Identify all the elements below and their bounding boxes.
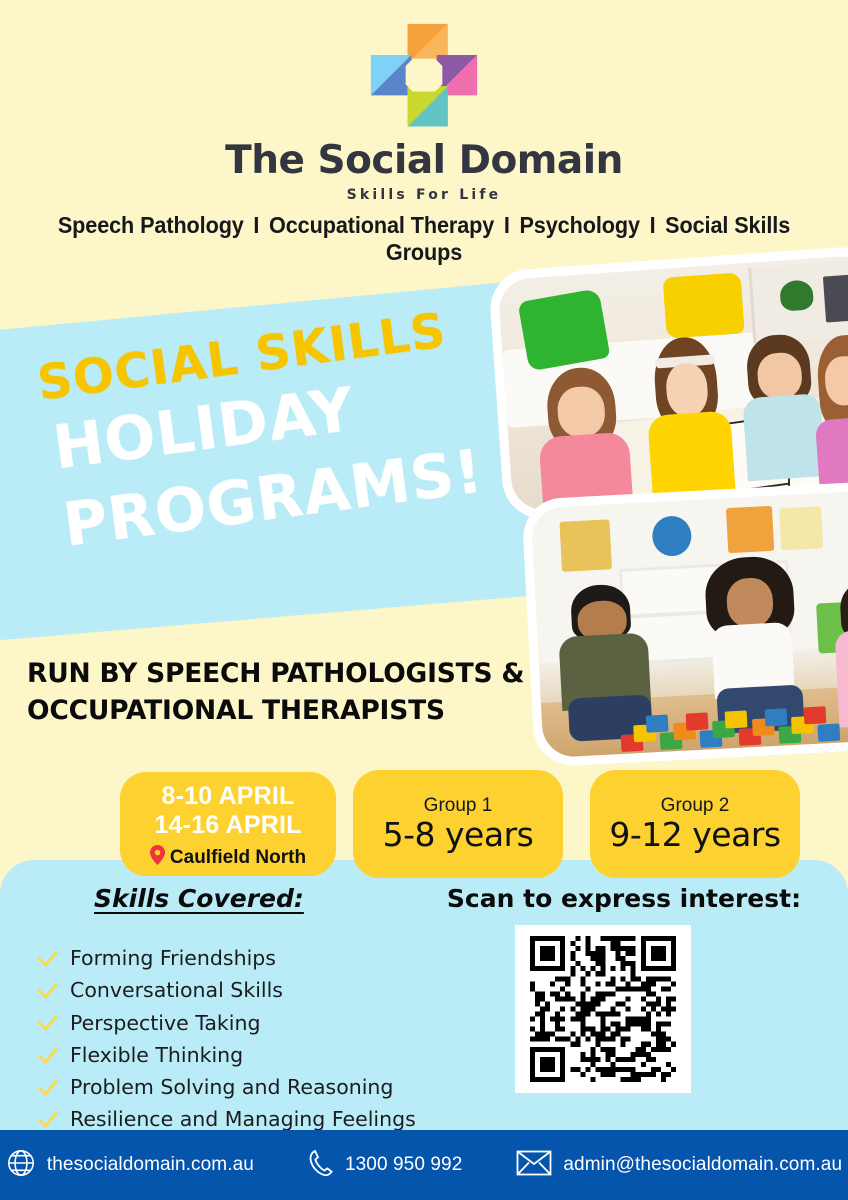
photo-children-drawing (488, 245, 848, 522)
check-tick-icon (38, 1079, 58, 1097)
poster-root: The Social Domain Skills For Life Speech… (0, 0, 848, 1200)
skill-label: Conversational Skills (70, 976, 283, 1004)
check-tick-icon (38, 1047, 58, 1065)
skills-list: Forming FriendshipsConversational Skills… (38, 944, 458, 1138)
location-label: Caulfield North (170, 847, 306, 869)
date-line-2: 14-16 APRIL (154, 811, 301, 840)
discipline-occupational-therapy: Occupational Therapy (269, 212, 494, 238)
footer-website-text: thesocialdomain.com.au (47, 1154, 254, 1176)
group-1-value: 5-8 years (383, 815, 534, 854)
check-tick-icon (38, 1014, 58, 1032)
brand-tagline: Skills For Life (0, 187, 848, 203)
separator: I (250, 212, 263, 238)
check-tick-icon (38, 982, 58, 1000)
skill-label: Forming Friendships (70, 944, 276, 972)
badges-row: 8-10 APRIL 14-16 APRIL Caulfield North G… (120, 772, 810, 880)
scan-heading: Scan to express interest: (424, 884, 824, 913)
discipline-speech-pathology: Speech Pathology (58, 212, 244, 238)
brand-name: The Social Domain (0, 141, 848, 180)
photo-children-blocks (521, 480, 848, 767)
qr-code-image[interactable] (515, 925, 691, 1093)
footer-phone-text: 1300 950 992 (345, 1154, 462, 1176)
separator: I (646, 212, 659, 238)
skill-item: Forming Friendships (38, 944, 458, 972)
subheading-block: RUN BY SPEECH PATHOLOGISTS & OCCUPATIONA… (27, 656, 547, 729)
group-1-label: Group 1 (424, 795, 493, 817)
brand-logo-block: The Social Domain Skills For Life (0, 22, 848, 203)
skill-item: Flexible Thinking (38, 1041, 458, 1069)
footer-website[interactable]: thesocialdomain.com.au (6, 1148, 254, 1183)
skills-heading: Skills Covered: (94, 884, 304, 913)
badge-group-1[interactable]: Group 1 5-8 years (353, 770, 563, 878)
footer-phone[interactable]: 1300 950 992 (308, 1149, 462, 1182)
footer-email[interactable]: admin@thesocialdomain.com.au (516, 1149, 842, 1182)
date-line-1: 8-10 APRIL (161, 782, 294, 811)
skill-label: Problem Solving and Reasoning (70, 1073, 393, 1101)
separator: I (500, 212, 513, 238)
skill-item: Conversational Skills (38, 976, 458, 1004)
globe-icon (6, 1148, 36, 1183)
pinwheel-cross-logo-icon (369, 119, 479, 136)
group-2-label: Group 2 (661, 795, 730, 817)
phone-icon (308, 1149, 334, 1182)
skill-item: Perspective Taking (38, 1009, 458, 1037)
footer-email-text: admin@thesocialdomain.com.au (563, 1154, 842, 1176)
envelope-icon (516, 1149, 552, 1182)
badge-dates[interactable]: 8-10 APRIL 14-16 APRIL Caulfield North (120, 772, 336, 876)
subheading-line-2: OCCUPATIONAL THERAPISTS (27, 693, 547, 730)
footer-contact-bar: thesocialdomain.com.au 1300 950 992 admi… (0, 1130, 848, 1200)
skill-label: Perspective Taking (70, 1009, 261, 1037)
check-tick-icon (38, 950, 58, 968)
skill-item: Problem Solving and Reasoning (38, 1073, 458, 1101)
group-2-value: 9-12 years (609, 815, 780, 854)
discipline-psychology: Psychology (519, 212, 639, 238)
main-headline: SOCIAL SKILLS HOLIDAY PROGRAMS! (24, 330, 494, 528)
badge-group-2[interactable]: Group 2 9-12 years (590, 770, 800, 878)
map-pin-icon (150, 845, 165, 870)
subheading-line-1: RUN BY SPEECH PATHOLOGISTS & (27, 656, 547, 693)
skill-label: Flexible Thinking (70, 1041, 243, 1069)
check-tick-icon (38, 1111, 58, 1129)
